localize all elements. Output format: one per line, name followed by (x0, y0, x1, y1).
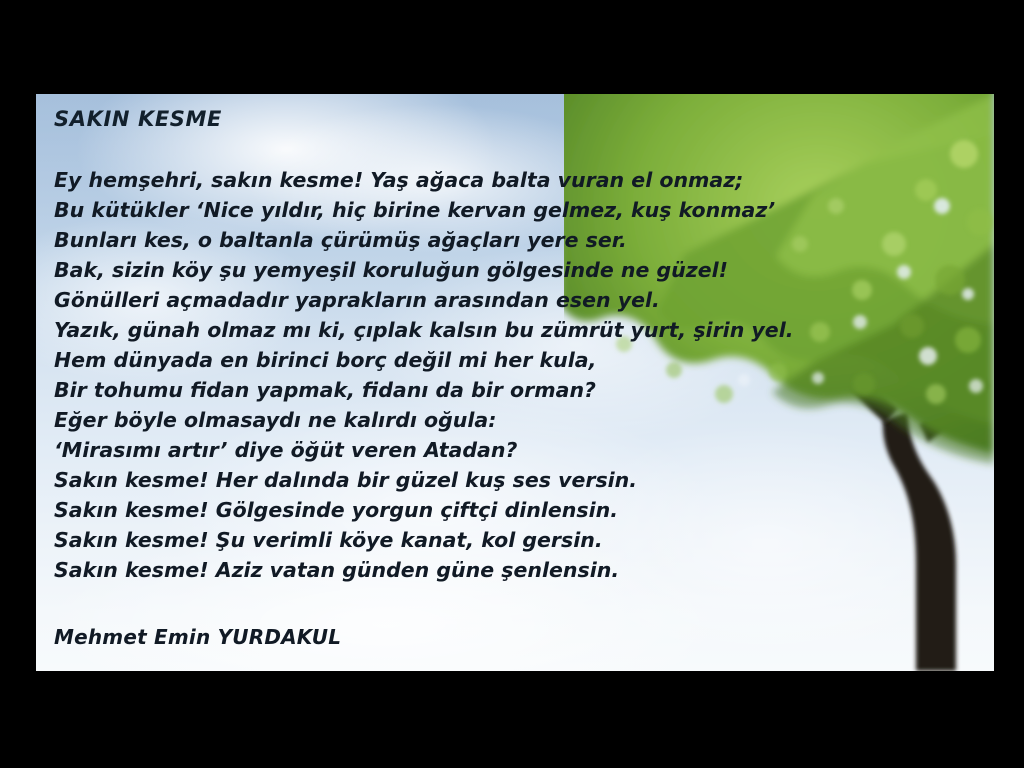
poem-line: Bu kütükler ‘Nice yıldır, hiç birine ker… (54, 195, 754, 225)
poem-line: Gönülleri açmadadır yaprakların arasında… (54, 285, 754, 315)
poem-text-block: SAKIN KESME Ey hemşehri, sakın kesme! Ya… (54, 108, 754, 649)
poem-line: ‘Mirasımı artır’ diye öğüt veren Atadan? (54, 435, 754, 465)
poem-line: Ey hemşehri, sakın kesme! Yaş ağaca balt… (54, 165, 754, 195)
poem-title: SAKIN KESME (54, 108, 754, 131)
poem-body: Ey hemşehri, sakın kesme! Yaş ağaca balt… (54, 165, 754, 585)
poem-line: Sakın kesme! Gölgesinde yorgun çiftçi di… (54, 495, 754, 525)
poem-line: Sakın kesme! Her dalında bir güzel kuş s… (54, 465, 754, 495)
poem-line: Hem dünyada en birinci borç değil mi her… (54, 345, 754, 375)
poem-line: Sakın kesme! Şu verimli köye kanat, kol … (54, 525, 754, 555)
letterbox-stage: SAKIN KESME Ey hemşehri, sakın kesme! Ya… (0, 0, 1024, 768)
poem-line: Bir tohumu fidan yapmak, fidanı da bir o… (54, 375, 754, 405)
poem-author: Mehmet Emin YURDAKUL (54, 625, 754, 649)
poem-line: Yazık, günah olmaz mı ki, çıplak kalsın … (54, 315, 754, 345)
poem-line: Sakın kesme! Aziz vatan günden güne şenl… (54, 555, 754, 585)
poem-line: Bunları kes, o baltanla çürümüş ağaçları… (54, 225, 754, 255)
poem-photo: SAKIN KESME Ey hemşehri, sakın kesme! Ya… (36, 94, 994, 671)
poem-line: Bak, sizin köy şu yemyeşil koruluğun göl… (54, 255, 754, 285)
poem-line: Eğer böyle olmasaydı ne kalırdı oğula: (54, 405, 754, 435)
